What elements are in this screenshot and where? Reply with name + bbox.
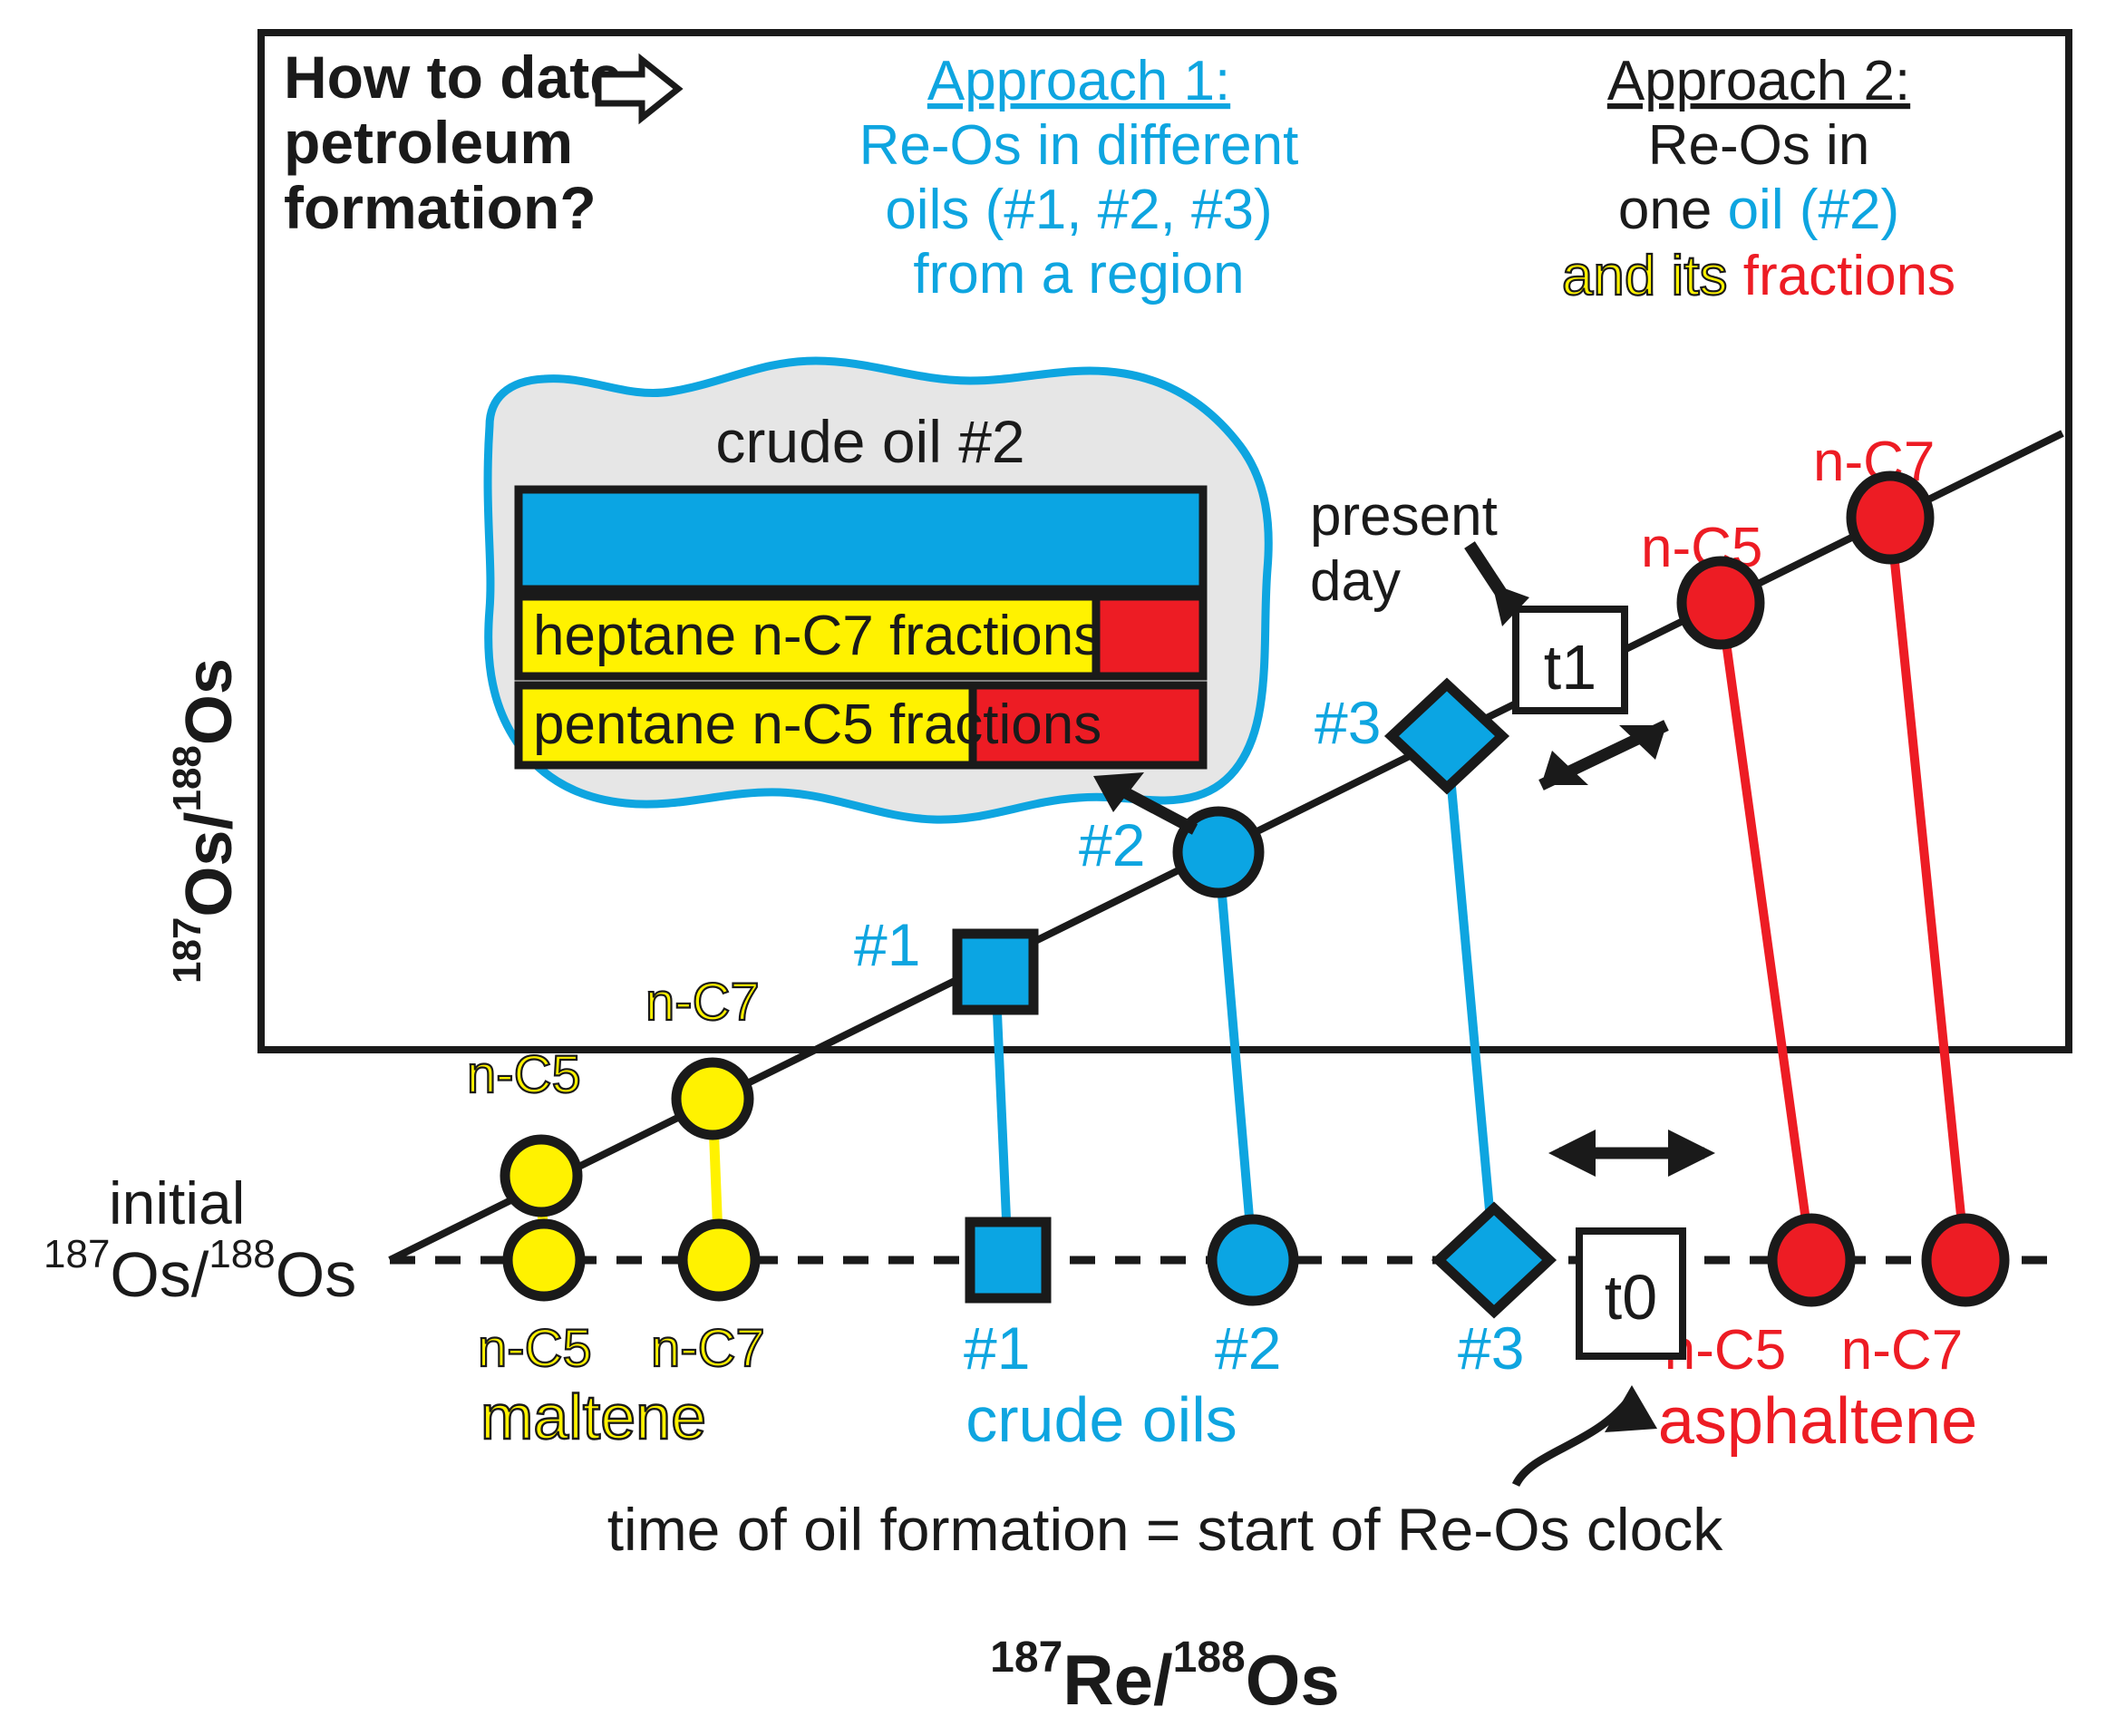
initial-el2: Os <box>276 1239 356 1310</box>
approach2-line2-black: one <box>1618 179 1728 241</box>
inset-title: crude oil #2 <box>715 408 1024 475</box>
approach2-heading: Approach 2: <box>1607 50 1910 112</box>
figure-canvas: How to date petroleum formation? Approac… <box>0 0 2125 1736</box>
label-crude-oils-group: crude oils <box>965 1384 1237 1455</box>
label-maltene-group: maltene <box>480 1382 706 1452</box>
x-axis-el2: Os <box>1246 1640 1340 1720</box>
marker-asphaltene-nc7-isochron[interactable] <box>1851 476 1929 559</box>
marker-maltene-nc7-isochron[interactable] <box>676 1062 749 1135</box>
bottom-caption: time of oil formation = start of Re-Os c… <box>607 1496 1724 1563</box>
marker-asphaltene-nc5-initial[interactable] <box>1772 1218 1850 1302</box>
approach2-line2-blue: oil (#2) <box>1728 179 1900 241</box>
t0-callout-curve <box>1516 1396 1632 1485</box>
label-oil-2-lower: #2 <box>1215 1314 1281 1382</box>
approach2-line2: one oil (#2) <box>1618 179 1899 241</box>
page-title-line2: petroleum <box>284 109 573 176</box>
approach1-line1: Re-Os in different <box>859 114 1299 177</box>
approach1-heading: Approach 1: <box>927 50 1230 112</box>
t0-callout-arrowhead-icon <box>1605 1385 1657 1432</box>
approach2-line3-yellow: and its <box>1562 245 1743 307</box>
marker-asphaltene-nc5-isochron[interactable] <box>1682 561 1760 645</box>
marker-oil-2-initial[interactable] <box>1212 1219 1294 1301</box>
label-maltene-nc5-upper: n-C5 <box>467 1045 581 1104</box>
label-maltene-nc5-lower: n-C5 <box>478 1319 592 1378</box>
inset-bar-heptane-label: heptane n-C7 fractions <box>533 605 1101 667</box>
initial-sup2: 188 <box>209 1232 275 1276</box>
label-asphaltene-group: asphaltene <box>1658 1385 1977 1458</box>
initial-el1: Os/ <box>110 1239 209 1310</box>
t0-label: t0 <box>1605 1262 1657 1333</box>
approach2-line3-red: fractions <box>1743 245 1955 307</box>
y-axis-label: 187Os/188Os <box>165 658 246 984</box>
initial-label-ratio: 187Os/188Os <box>44 1232 356 1310</box>
marker-maltene-nc7-initial[interactable] <box>683 1224 755 1296</box>
approach2-line3: and its fractions <box>1562 245 1955 307</box>
approach1-line3: from a region <box>913 243 1244 305</box>
label-oil-1-upper: #1 <box>854 911 920 978</box>
present-day-line1: present <box>1310 485 1498 548</box>
label-oil-3-upper: #3 <box>1315 689 1381 756</box>
page-title-line1: How to date <box>284 44 623 111</box>
label-maltene-nc7-upper: n-C7 <box>645 973 760 1032</box>
present-day-line2: day <box>1310 550 1401 613</box>
label-oil-2-upper: #2 <box>1079 811 1145 878</box>
marker-asphaltene-nc7-initial[interactable] <box>1926 1218 2004 1302</box>
marker-oil-1-initial[interactable] <box>970 1222 1046 1298</box>
x-axis-sup2: 188 <box>1173 1634 1246 1682</box>
y-axis-el2: Os <box>173 658 246 745</box>
label-asphaltene-nc7-lower: n-C7 <box>1841 1319 1963 1382</box>
initial-sup1: 187 <box>44 1232 110 1276</box>
svg-text:187Os/188Os: 187Os/188Os <box>165 658 246 984</box>
t0-arrowhead-left-icon <box>1548 1130 1596 1177</box>
marker-oil-3-initial[interactable] <box>1439 1208 1549 1312</box>
x-axis-el1: Re/ <box>1062 1640 1172 1720</box>
marker-oil-1-isochron[interactable] <box>957 934 1033 1010</box>
marker-maltene-nc5-isochron[interactable] <box>505 1140 577 1212</box>
approach2-line1: Re-Os in <box>1648 114 1870 177</box>
page-title-line3: formation? <box>284 174 597 241</box>
t1-label: t1 <box>1544 632 1596 703</box>
label-maltene-nc7-lower: n-C7 <box>651 1319 765 1378</box>
initial-label-word: initial <box>109 1169 245 1237</box>
crude-oil-inset: crude oil #2 heptane n-C7 fractions pent… <box>488 361 1268 820</box>
approach1-line2: oils (#1, #2, #3) <box>885 179 1272 241</box>
re-os-isochron-diagram: How to date petroleum formation? Approac… <box>0 0 2125 1736</box>
inset-bar-whole-oil[interactable] <box>519 490 1203 589</box>
t0-arrowhead-right-icon <box>1668 1130 1715 1177</box>
x-axis-sup1: 187 <box>990 1634 1062 1682</box>
y-axis-sup1: 187 <box>165 917 209 984</box>
label-oil-1-lower: #1 <box>964 1314 1030 1382</box>
inset-bar-heptane-red <box>1096 596 1203 676</box>
x-axis-label: 187Re/188Os <box>990 1634 1340 1720</box>
label-oil-3-lower: #3 <box>1458 1314 1524 1382</box>
inset-bar-pentane-label: pentane n-C5 fractions <box>533 693 1101 756</box>
y-axis-el1: Os/ <box>173 812 246 917</box>
y-axis-sup2: 188 <box>165 745 209 811</box>
marker-maltene-nc5-initial[interactable] <box>508 1224 580 1296</box>
